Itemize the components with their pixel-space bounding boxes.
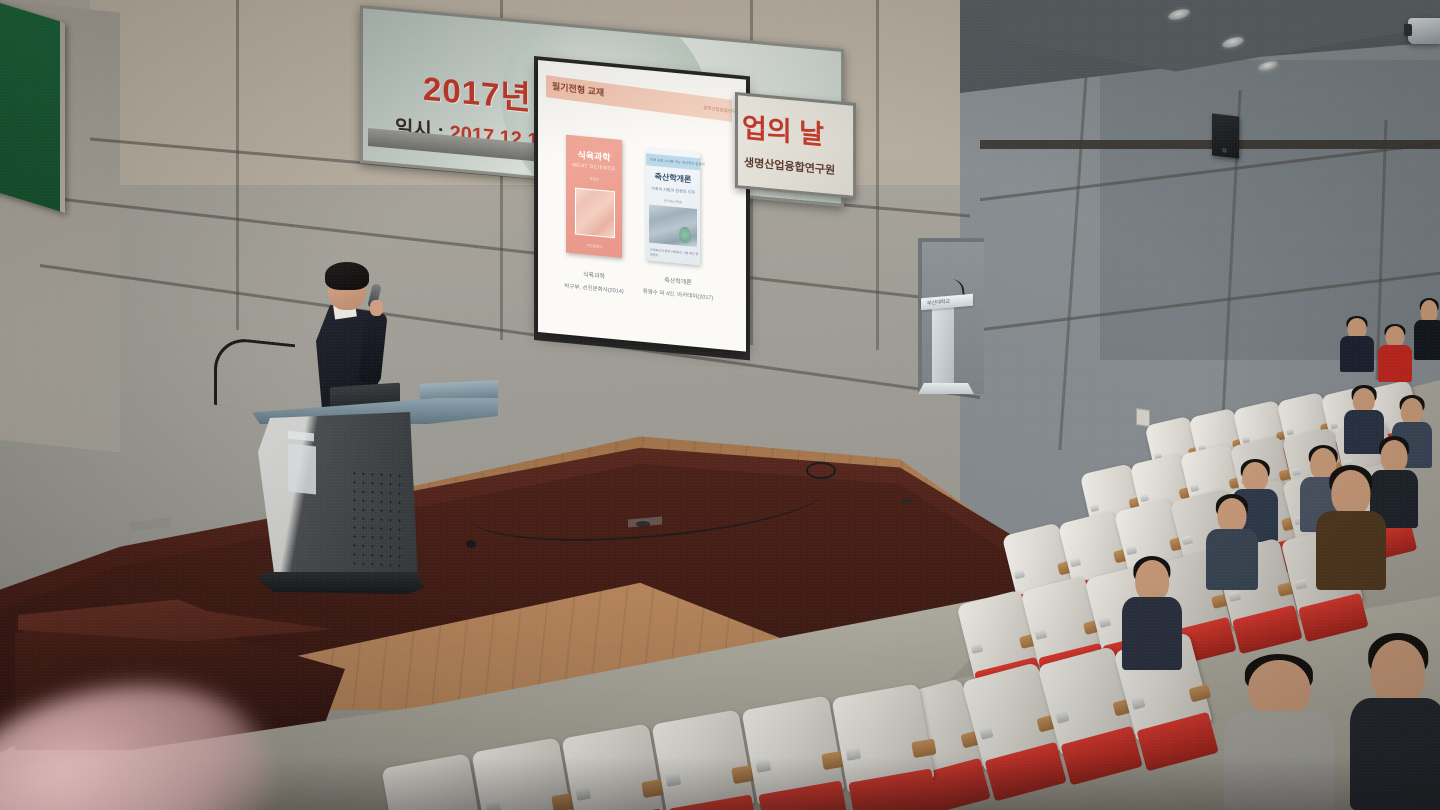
slide-title: 필기전형 교재: [552, 79, 604, 99]
cable-loop: [806, 462, 836, 479]
person-head: [1401, 398, 1423, 425]
book2-band-text: 미래 농업 시대를 여는 축산학의 길잡이: [650, 157, 705, 167]
audience-member: [1340, 318, 1374, 372]
audience-member: [1206, 498, 1258, 590]
presenter-hand: [370, 300, 383, 316]
person-torso: [1122, 597, 1182, 670]
audience-member: [1414, 300, 1440, 360]
acrylic-lectern-column: [932, 305, 954, 387]
cable-connector: [900, 498, 912, 504]
book2-band: 미래 농업 시대를 여는 축산학의 길잡이: [646, 153, 700, 170]
acrylic-lectern-base: [918, 383, 974, 394]
book1-publisher: 선진문화사: [566, 242, 622, 252]
green-chalkboard: [0, 0, 65, 213]
audience-member: [1122, 560, 1182, 670]
person-torso: [1316, 511, 1386, 590]
cable-connector: [636, 521, 650, 527]
podium-control-panel[interactable]: [288, 444, 316, 495]
slide-title-bar: 필기전형 교재: [546, 75, 732, 122]
book2-footer: 미래축산과 환경 미래축산 기술 축산 경영관리: [650, 248, 700, 262]
audience-member: [1316, 470, 1386, 590]
person-torso: [1206, 529, 1258, 590]
projection-screen: 필기전형 교재 생명산업융합연구원 식육과학 MEAT SCIENCE 개정판 …: [538, 60, 746, 352]
book-cover-2: 미래 농업 시대를 여는 축산학의 길잡이 축산학개론 가축과 사람과 환경의 …: [646, 148, 700, 265]
person-torso: [1340, 336, 1374, 372]
person-head: [1331, 470, 1370, 516]
presenter-hair: [325, 262, 369, 290]
person-torso: [1378, 345, 1412, 382]
event-banner-right: 업의 날 생명산업융합연구원: [735, 92, 856, 199]
book1-note: 개정판: [566, 175, 622, 185]
person-head: [1248, 660, 1310, 717]
book1-cover-image: [575, 187, 615, 238]
person-head: [1242, 462, 1268, 492]
book-cover-1: 식육과학 MEAT SCIENCE 개정판 선진문화사: [566, 135, 622, 258]
book2-caption-title: 축산학개론: [638, 272, 718, 289]
projector-icon: [1408, 18, 1440, 44]
banner-right-organization: 생명산업융합연구원: [744, 154, 835, 178]
podium-base: [258, 572, 424, 594]
person-head: [1421, 300, 1438, 323]
person-head: [1217, 498, 1246, 533]
gooseneck-mic-stand-icon: [214, 336, 295, 414]
audience-member: [1378, 326, 1412, 382]
book2-subtitle: 가축과 사람과 환경의 조화: [646, 185, 700, 196]
lectern-label: 부산대학교: [927, 298, 950, 307]
cable-connector: [466, 540, 476, 548]
banner-right-title: 업의 날: [742, 106, 824, 152]
book2-cover-image: [649, 204, 697, 247]
wall-seam: [876, 0, 879, 350]
lecture-hall-photo: 2017년 제5회 일시 : 2017.12.15(금) 08:50~ 필기전형…: [0, 0, 1440, 810]
person-head: [1353, 388, 1375, 413]
projector-lens-icon: [1404, 24, 1412, 36]
book2-title: 축산학개론: [646, 170, 700, 186]
podium-speaker-grill: [350, 469, 402, 568]
person-head: [1135, 560, 1169, 602]
person-head: [1381, 440, 1408, 473]
person-head: [1371, 640, 1425, 705]
person-torso: [1414, 320, 1440, 360]
wall-seam: [236, 0, 239, 330]
wall-speaker-icon: [1212, 113, 1239, 158]
